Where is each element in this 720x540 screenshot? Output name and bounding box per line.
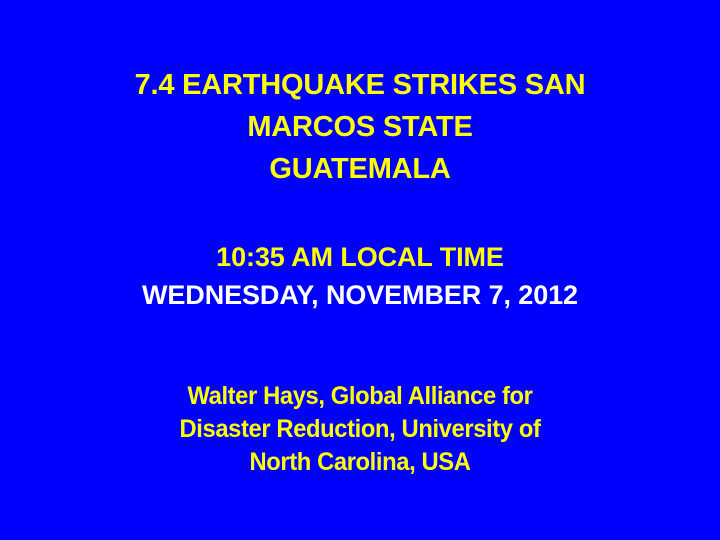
author-line-2: Disaster Reduction, University of xyxy=(18,413,702,446)
title-line-3: GUATEMALA xyxy=(0,148,720,190)
event-datetime: 10:35 AM LOCAL TIME WEDNESDAY, NOVEMBER … xyxy=(0,238,720,314)
presentation-slide: 7.4 EARTHQUAKE STRIKES SAN MARCOS STATE … xyxy=(0,0,720,540)
author-line-1: Walter Hays, Global Alliance for xyxy=(18,380,702,413)
title-line-1: 7.4 EARTHQUAKE STRIKES SAN xyxy=(0,64,720,106)
slide-title: 7.4 EARTHQUAKE STRIKES SAN MARCOS STATE … xyxy=(0,64,720,190)
title-line-2: MARCOS STATE xyxy=(0,106,720,148)
author-affiliation: Walter Hays, Global Alliance for Disaste… xyxy=(0,380,720,479)
event-time: 10:35 AM LOCAL TIME xyxy=(0,238,720,276)
author-line-3: North Carolina, USA xyxy=(18,446,702,479)
event-date: WEDNESDAY, NOVEMBER 7, 2012 xyxy=(0,276,720,314)
